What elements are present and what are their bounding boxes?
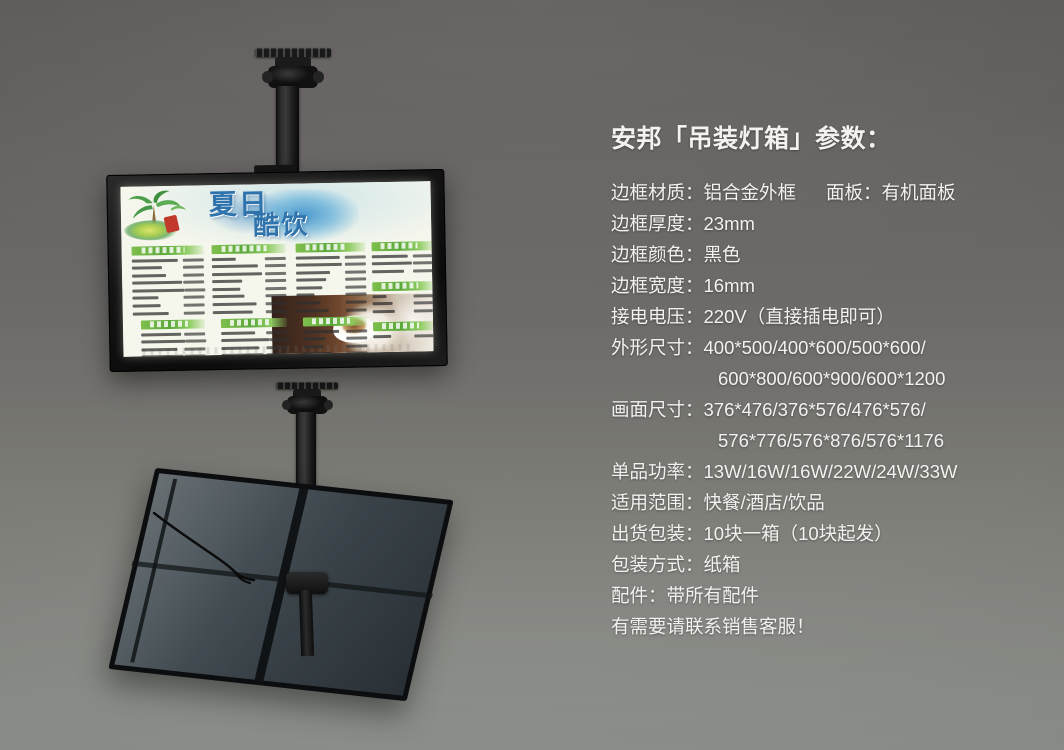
menu-section xyxy=(373,321,434,339)
spec-value: 快餐/酒店/饮品 xyxy=(704,487,825,518)
spec-note: 有需要请联系销售客服！ xyxy=(611,616,815,637)
spec-row: 边框宽度：16mm xyxy=(611,270,1056,301)
menu-section xyxy=(296,242,367,313)
section-header-banner xyxy=(132,245,204,255)
section-header-banner xyxy=(141,319,205,329)
spec-value: 铝合金外框 xyxy=(704,177,797,208)
menu-sections-grid xyxy=(126,241,432,351)
spec-row: 单品功率：13W/16W/16W/22W/24W/33W xyxy=(611,456,1056,487)
menu-section xyxy=(132,245,205,316)
spec-row-list: 边框材质：铝合金外框面板：有机面板边框厚度：23mm边框颜色：黑色边框宽度：16… xyxy=(611,177,1056,642)
spec-key: 边框颜色： xyxy=(611,239,704,270)
menu-column-4 xyxy=(371,241,433,343)
section-header-banner xyxy=(212,244,286,254)
headline-line-2: 酷饮 xyxy=(253,211,310,240)
spec-panel: 安邦「吊装灯箱」参数： 边框材质：铝合金外框面板：有机面板边框厚度：23mm边框… xyxy=(611,126,1056,642)
spec-row: 边框厚度：23mm xyxy=(611,208,1056,239)
section-header-banner xyxy=(303,317,367,327)
spec-row: 出货包装：10块一箱（10块起发） xyxy=(611,518,1056,549)
spec-value: 带所有配件 xyxy=(667,580,760,611)
spec-row: 600*800/600*900/600*1200 xyxy=(611,363,1056,394)
menu-column-1 xyxy=(132,245,206,356)
spec-row: 接电电压：220V（直接插电即可） xyxy=(611,301,1056,332)
spec-value: 黑色 xyxy=(704,239,741,270)
spec-row: 边框颜色：黑色 xyxy=(611,239,1056,270)
spec-row: 画面尺寸：376*476/376*576/476*576/ xyxy=(611,394,1056,425)
spec-key: 配件： xyxy=(611,580,667,611)
ceiling-mount-plate-top xyxy=(255,48,331,57)
section-header-banner xyxy=(371,241,433,251)
spec-title: 安邦「吊装灯箱」参数： xyxy=(611,126,1056,154)
swivel-joint-ball-top xyxy=(268,66,318,88)
spec-key: 外形尺寸： xyxy=(611,332,704,363)
menu-section xyxy=(212,244,287,316)
spec-row: 包装方式：纸箱 xyxy=(611,549,1056,580)
menu-section xyxy=(371,241,433,274)
spec-value: 23mm xyxy=(704,208,755,239)
spec-value-secondary: 有机面板 xyxy=(882,177,956,208)
spec-key: 边框材质： xyxy=(611,177,704,208)
spec-key: 包装方式： xyxy=(611,549,704,580)
spec-key: 边框宽度： xyxy=(611,270,704,301)
product-photo-canvas: 夏日 酷饮 xyxy=(0,0,1064,750)
spec-row: 配件：带所有配件 xyxy=(611,580,1056,611)
menu-section xyxy=(303,317,368,357)
swivel-knob-right-top xyxy=(313,71,324,83)
menu-column-3 xyxy=(296,242,368,356)
spec-value: 376*476/376*576/476*576/ xyxy=(704,394,926,425)
spec-key: 出货包装： xyxy=(611,518,704,549)
spec-row: 576*776/576*876/576*1176 xyxy=(611,425,1056,456)
spec-value-continued: 600*800/600*900/600*1200 xyxy=(718,363,945,394)
menu-poster: 夏日 酷饮 xyxy=(120,181,433,357)
spec-key: 接电电压： xyxy=(611,301,704,332)
spec-row: 适用范围：快餐/酒店/饮品 xyxy=(611,487,1056,518)
menu-section xyxy=(372,281,433,314)
section-header-banner xyxy=(373,321,434,331)
section-header-banner xyxy=(372,281,433,291)
spec-row: 外形尺寸：400*500/400*600/500*600/ xyxy=(611,332,1056,363)
section-header-banner xyxy=(221,318,287,328)
spec-value: 400*500/400*600/500*600/ xyxy=(704,332,926,363)
spec-key: 画面尺寸： xyxy=(611,394,704,425)
spec-value: 13W/16W/16W/22W/24W/33W xyxy=(704,456,958,487)
menu-panel-face: 夏日 酷饮 xyxy=(120,181,433,357)
swivel-knob-left-top xyxy=(262,71,273,83)
spec-key-secondary: 面板： xyxy=(826,177,882,208)
spec-row: 有需要请联系销售客服！ xyxy=(611,611,1056,642)
menu-section xyxy=(141,319,206,356)
spec-value: 纸箱 xyxy=(704,549,741,580)
spec-key: 单品功率： xyxy=(611,456,704,487)
menu-column-2 xyxy=(212,244,288,357)
spec-value: 220V（直接插电即可） xyxy=(704,301,895,332)
spec-key: 边框厚度： xyxy=(611,208,704,239)
menu-section xyxy=(221,318,288,357)
spec-value: 16mm xyxy=(704,270,755,301)
spec-value-continued: 576*776/576*876/576*1176 xyxy=(718,425,944,456)
menu-lightbox-frame: 夏日 酷饮 xyxy=(106,169,448,372)
spec-row: 边框材质：铝合金外框面板：有机面板 xyxy=(611,177,1056,208)
poster-headline: 夏日 酷饮 xyxy=(207,188,368,249)
spec-value: 10块一箱（10块起发） xyxy=(704,518,893,549)
spec-key: 适用范围： xyxy=(611,487,704,518)
section-header-banner xyxy=(296,242,366,252)
